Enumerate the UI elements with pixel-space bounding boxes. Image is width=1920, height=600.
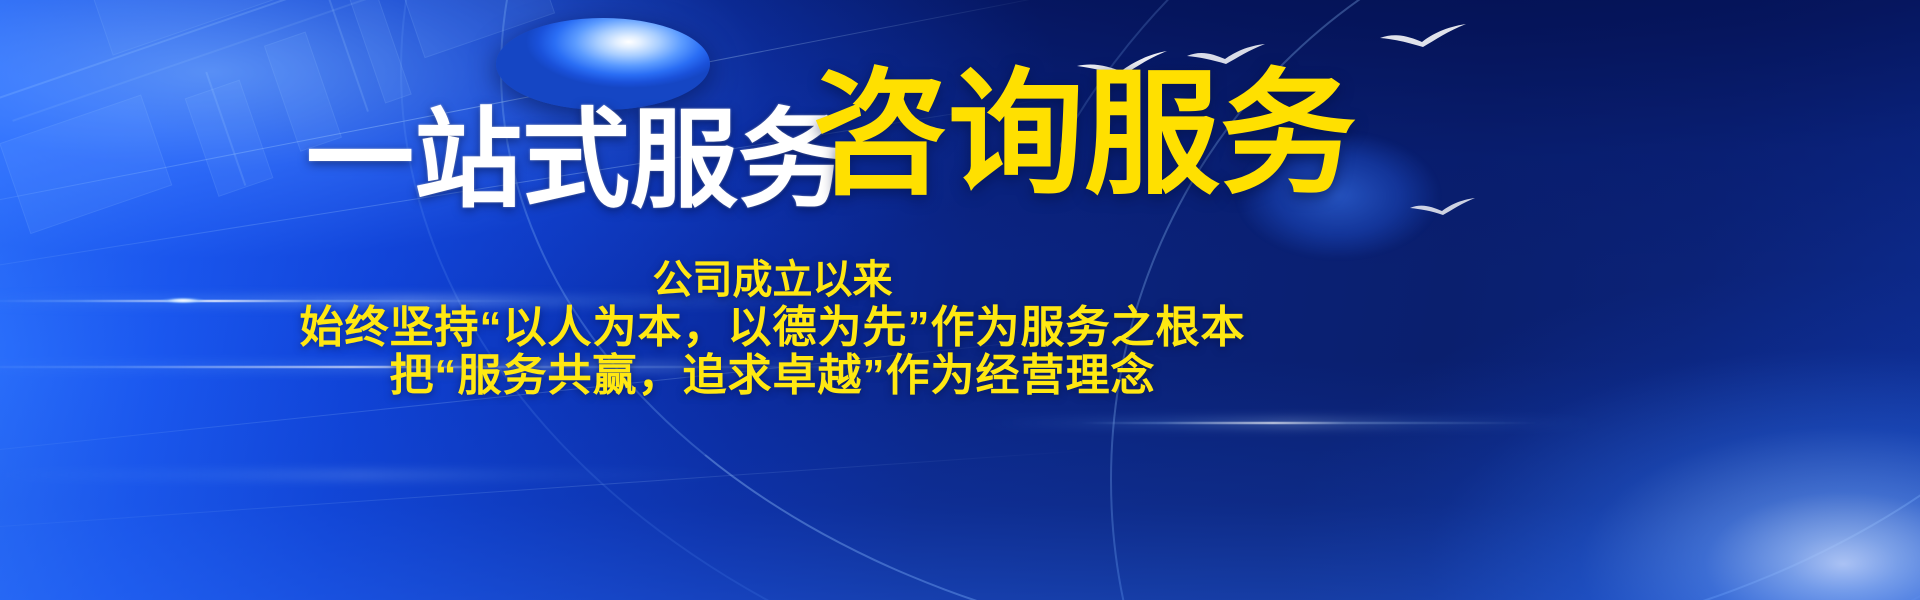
tagline-line-3: 把“服务共赢，追求卓越”作为经营理念 <box>0 352 1545 400</box>
headline-primary: 一站式服务 <box>306 106 846 214</box>
text-block: 一站式服务 咨询服务 公司成立以来 始终坚持“以人为本，以德为先”作为服务之根本… <box>0 0 1920 600</box>
promo-banner: 一站式服务 咨询服务 公司成立以来 始终坚持“以人为本，以德为先”作为服务之根本… <box>0 0 1920 600</box>
tagline-line-1: 公司成立以来 <box>0 256 1545 304</box>
tagline-block: 公司成立以来 始终坚持“以人为本，以德为先”作为服务之根本 把“服务共赢，追求卓… <box>0 256 1545 400</box>
tagline-line-2: 始终坚持“以人为本，以德为先”作为服务之根本 <box>0 304 1545 352</box>
headline-accent: 咨询服务 <box>812 66 1356 202</box>
